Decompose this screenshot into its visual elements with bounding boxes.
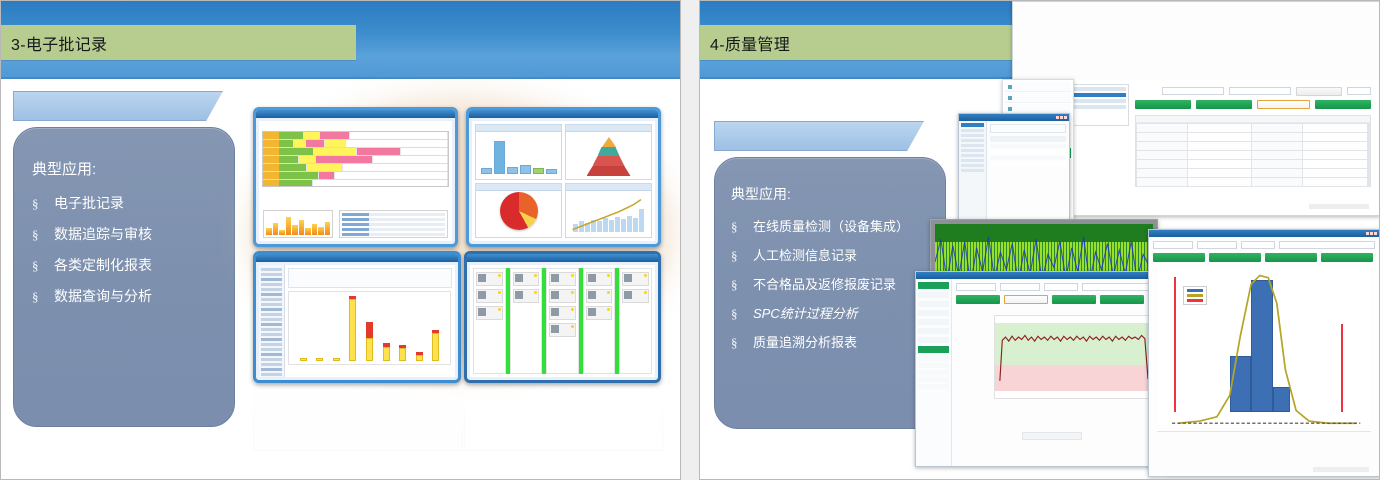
table-row — [263, 132, 448, 140]
table-row — [1137, 178, 1370, 187]
collage-reflection — [253, 383, 463, 451]
table-row — [1137, 142, 1370, 151]
bar-group — [300, 358, 307, 361]
chart-legend — [1022, 432, 1082, 440]
sidebar-item-module[interactable] — [918, 282, 949, 289]
list-item-label: 不合格品及返修报废记录 — [753, 274, 896, 293]
window-titlebar — [1149, 230, 1379, 237]
trend-series — [571, 196, 647, 233]
kanban-card[interactable] — [549, 289, 576, 303]
query-button[interactable] — [1241, 241, 1275, 249]
row-label — [263, 164, 280, 171]
kanban-card[interactable] — [513, 272, 540, 286]
window-content — [916, 279, 1164, 466]
end-date-field[interactable] — [1000, 283, 1040, 291]
list-item-label: 数据查询与分析 — [54, 286, 152, 306]
tab-process-1[interactable] — [1153, 253, 1205, 262]
window-titlebar — [256, 254, 458, 262]
slide-deck: 3-电子批记录 典型应用: § 电子批记录 § 数据追踪与审核 § — [0, 0, 1380, 480]
end-date-field[interactable] — [1197, 241, 1237, 249]
sidebar-item-equipment[interactable] — [918, 337, 949, 343]
bar-group — [366, 322, 373, 361]
mini-bar-chart — [263, 210, 333, 238]
kanban-card[interactable] — [549, 306, 576, 320]
table-header — [990, 136, 1066, 142]
control-chart-main — [952, 279, 1164, 466]
measurement-trace — [995, 316, 1157, 384]
dashboard-bar-chart — [475, 124, 562, 180]
table-row — [1137, 151, 1370, 160]
bar-group — [316, 358, 323, 361]
slide-electronic-batch-record: 3-电子批记录 典型应用: § 电子批记录 § 数据追踪与审核 § — [0, 0, 681, 480]
slide-body: 典型应用: § 电子批记录 § 数据追踪与审核 § 各类定制化报表 — [1, 79, 680, 480]
table-row — [990, 144, 1066, 148]
row-label — [263, 140, 280, 147]
kanban-board — [473, 268, 652, 374]
product-select[interactable] — [1279, 241, 1375, 249]
panel-caption — [566, 125, 651, 132]
table-row — [263, 164, 448, 172]
table-row — [990, 162, 1066, 166]
gantt-grid — [262, 131, 449, 187]
kanban-card[interactable] — [476, 272, 503, 286]
section-bullet-icon: § — [731, 335, 753, 351]
table-row — [263, 140, 448, 148]
bullet-list: § 在线质量检测（设备集成） § 人工检测信息记录 § 不合格品及返修报废记录 … — [731, 216, 945, 351]
callout-banner — [13, 91, 223, 121]
list-item: § 数据追踪与审核 — [32, 224, 234, 244]
bar-group — [383, 343, 390, 361]
spc-control-chart — [994, 315, 1158, 399]
dashboard-pie-chart — [475, 183, 562, 239]
list-item-label: 各类定制化报表 — [54, 255, 152, 275]
bar-group — [399, 345, 406, 361]
table-row — [990, 156, 1066, 160]
chart-legend — [1183, 286, 1207, 305]
sidebar-item-material[interactable] — [918, 301, 949, 307]
gantt-cells — [280, 164, 448, 171]
gantt-cells — [280, 140, 448, 147]
list-item — [342, 228, 445, 231]
sidebar-item-production[interactable] — [918, 310, 949, 316]
callout-banner — [714, 121, 924, 151]
page-title: 3-电子批记录 — [11, 31, 107, 55]
kanban-column[interactable] — [619, 268, 652, 374]
menu-item-material[interactable] — [1005, 93, 1071, 103]
window-controls[interactable] — [1056, 116, 1067, 119]
tab-process-3[interactable] — [1052, 295, 1096, 304]
row-label — [263, 180, 280, 187]
report-sidebar[interactable] — [259, 265, 285, 377]
window-content — [259, 121, 452, 241]
tab-process-4[interactable] — [1321, 253, 1373, 262]
bullet-list: § 电子批记录 § 数据追踪与审核 § 各类定制化报表 § 数据查询与分析 — [32, 193, 234, 306]
spc-statistics-table — [1136, 123, 1370, 187]
spc-histogram — [1157, 267, 1371, 425]
table-row — [1137, 169, 1370, 178]
control-chart-window[interactable] — [915, 271, 1165, 467]
tab-process-2[interactable] — [1209, 253, 1261, 262]
window-content — [470, 265, 655, 377]
kanban-card[interactable] — [549, 323, 576, 337]
list-item — [342, 233, 445, 236]
dashboard-pyramid — [565, 124, 652, 180]
row-label — [263, 172, 280, 179]
row-label — [263, 148, 280, 155]
list-item — [342, 218, 445, 221]
tree-node[interactable] — [1074, 105, 1126, 109]
panel-caption — [476, 184, 561, 191]
kanban-column[interactable] — [510, 268, 543, 374]
tab-process-2[interactable] — [1196, 100, 1252, 109]
tab-process-1[interactable] — [956, 295, 1000, 304]
table-row — [263, 148, 448, 156]
dashboard-grid — [475, 124, 652, 238]
list-item-label: SPC统计过程分析 — [753, 303, 858, 322]
gantt-cells — [280, 172, 448, 179]
process-tree[interactable] — [1071, 84, 1129, 126]
gantt-cells — [280, 156, 448, 163]
row-label — [263, 132, 280, 139]
window-footer-note — [1313, 467, 1369, 472]
sidebar-item-spc[interactable] — [918, 292, 949, 298]
report-bar-chart — [288, 291, 451, 365]
table-row — [263, 172, 448, 180]
tree-node[interactable] — [1074, 87, 1126, 91]
query-button[interactable] — [1296, 87, 1342, 96]
row-label — [263, 156, 280, 163]
gantt-cells — [280, 148, 448, 155]
panel-caption — [476, 125, 561, 132]
tab-process-4[interactable] — [1100, 295, 1144, 304]
end-date-field[interactable] — [1229, 87, 1291, 95]
gantt-cells — [280, 180, 448, 187]
bar-series — [481, 136, 557, 174]
section-bullet-icon: § — [32, 258, 54, 274]
list-item — [342, 223, 445, 226]
window-content — [259, 265, 455, 377]
list-item: § 质量追溯分析报表 — [731, 332, 945, 351]
start-date-field[interactable] — [1153, 241, 1193, 249]
kanban-column[interactable] — [473, 268, 506, 374]
kanban-card[interactable] — [622, 289, 649, 303]
table-row — [1137, 133, 1370, 142]
list-item-label: 数据追踪与审核 — [54, 224, 152, 244]
report-filter-form[interactable] — [288, 268, 452, 288]
pie-shape — [500, 192, 538, 230]
tab-process-3-active[interactable] — [1257, 100, 1310, 109]
tab-process-1[interactable] — [1135, 100, 1191, 109]
kanban-card[interactable] — [476, 289, 503, 303]
query-button[interactable] — [1044, 283, 1078, 291]
tree-node[interactable] — [1074, 93, 1126, 97]
slide-title-bar: 3-电子批记录 — [1, 25, 356, 60]
histogram-footer — [1157, 431, 1371, 460]
quality-sidebar[interactable] — [916, 279, 952, 466]
sidebar-item-process[interactable] — [918, 328, 949, 334]
section-bullet-icon: § — [731, 306, 753, 322]
start-date-field[interactable] — [1162, 87, 1224, 95]
list-item: § SPC统计过程分析 — [731, 303, 945, 322]
window-titlebar — [469, 110, 658, 118]
sidebar-subitem[interactable] — [918, 370, 949, 375]
kanban-column[interactable] — [546, 268, 579, 374]
list-item: § 电子批记录 — [32, 193, 234, 213]
list-item — [342, 213, 445, 216]
report-query-window[interactable] — [253, 251, 461, 383]
window-titlebar — [467, 254, 658, 262]
list-item: § 数据查询与分析 — [32, 286, 234, 306]
table-row — [263, 180, 448, 187]
sidebar-item-quality-active[interactable] — [918, 346, 949, 353]
kanban-card[interactable] — [586, 289, 613, 303]
bar-group — [333, 358, 340, 361]
kanban-column[interactable] — [583, 268, 616, 374]
slide-title-bar: 4-质量管理 — [700, 25, 1060, 60]
window-footer-note — [1309, 204, 1369, 209]
window-titlebar — [916, 272, 1164, 279]
table-row — [263, 156, 448, 164]
slide-quality-management: 4-质量管理 典型应用: § 在线质量检测（设备集成） § 人工检测信息记录 § — [699, 0, 1380, 480]
typical-applications-card: 典型应用: § 电子批记录 § 数据追踪与审核 § 各类定制化报表 — [13, 127, 235, 427]
sidebar-item-line[interactable] — [918, 319, 949, 325]
collage-reflection — [915, 467, 1167, 480]
table-row — [1137, 160, 1370, 169]
section-bullet-icon: § — [32, 227, 54, 243]
section-bullet-icon: § — [32, 196, 54, 212]
list-item: § 在线质量检测（设备集成） — [731, 216, 945, 235]
tab-process-4[interactable] — [1315, 100, 1371, 109]
card-heading: 典型应用: — [32, 158, 234, 179]
section-bullet-icon: § — [731, 277, 753, 293]
sidebar-subitem[interactable] — [918, 356, 949, 361]
toolbar[interactable] — [990, 124, 1066, 133]
kanban-card[interactable] — [622, 272, 649, 286]
page-title: 4-质量管理 — [710, 31, 790, 55]
kanban-card[interactable] — [513, 289, 540, 303]
product-select[interactable] — [1347, 87, 1371, 95]
table-row — [1137, 124, 1370, 133]
window-titlebar — [256, 110, 455, 118]
section-bullet-icon: § — [731, 219, 753, 235]
bar-group — [349, 296, 356, 361]
tree-node[interactable] — [1074, 99, 1126, 103]
sidebar-subitem[interactable] — [918, 384, 949, 389]
bar-group — [416, 352, 423, 361]
card-heading: 典型应用: — [731, 184, 945, 204]
kanban-card[interactable] — [586, 306, 613, 320]
window-content — [1149, 237, 1379, 476]
gantt-cells — [280, 132, 448, 139]
list-item-label: 质量追溯分析报表 — [753, 332, 857, 351]
kanban-card[interactable] — [549, 272, 576, 286]
kanban-card[interactable] — [476, 306, 503, 320]
dashboard-trend-chart — [565, 183, 652, 239]
window-titlebar — [959, 114, 1069, 121]
menu-item-production-plan[interactable] — [1005, 82, 1071, 92]
start-date-field[interactable] — [956, 283, 996, 291]
list-item-label: 电子批记录 — [54, 193, 124, 213]
histogram-window[interactable] — [1148, 229, 1380, 477]
gantt-scheduling-window[interactable] — [253, 107, 458, 247]
panel-gutter — [681, 0, 699, 480]
list-item: § 人工检测信息记录 — [731, 245, 945, 264]
window-controls[interactable] — [1366, 232, 1377, 235]
slide-body: 典型应用: § 在线质量检测（设备集成） § 人工检测信息记录 § 不合格品及返… — [700, 79, 1379, 480]
list-item: § 不合格品及返修报废记录 — [731, 274, 945, 293]
pyramid-shape — [587, 137, 631, 176]
tab-process-3[interactable] — [1265, 253, 1317, 262]
sidebar-subitem[interactable] — [918, 377, 949, 382]
list-item: § 各类定制化报表 — [32, 255, 234, 275]
section-bullet-icon: § — [32, 289, 54, 305]
bar-group — [432, 330, 439, 361]
tab-process-2-active[interactable] — [1004, 295, 1048, 304]
kanban-card[interactable] — [586, 272, 613, 286]
list-item-label: 在线质量检测（设备集成） — [753, 216, 909, 235]
sidebar-subitem[interactable] — [918, 363, 949, 368]
mini-record-list — [339, 210, 448, 238]
collage-reflection — [464, 383, 663, 451]
window-content — [472, 121, 655, 241]
typical-applications-card: 典型应用: § 在线质量检测（设备集成） § 人工检测信息记录 § 不合格品及返… — [714, 157, 946, 429]
kpi-dashboard-window[interactable] — [466, 107, 661, 247]
panel-caption — [566, 184, 651, 191]
equipment-kanban-window[interactable] — [464, 251, 661, 383]
section-bullet-icon: § — [731, 248, 753, 264]
table-row — [990, 150, 1066, 154]
list-item-label: 人工检测信息记录 — [753, 245, 857, 264]
